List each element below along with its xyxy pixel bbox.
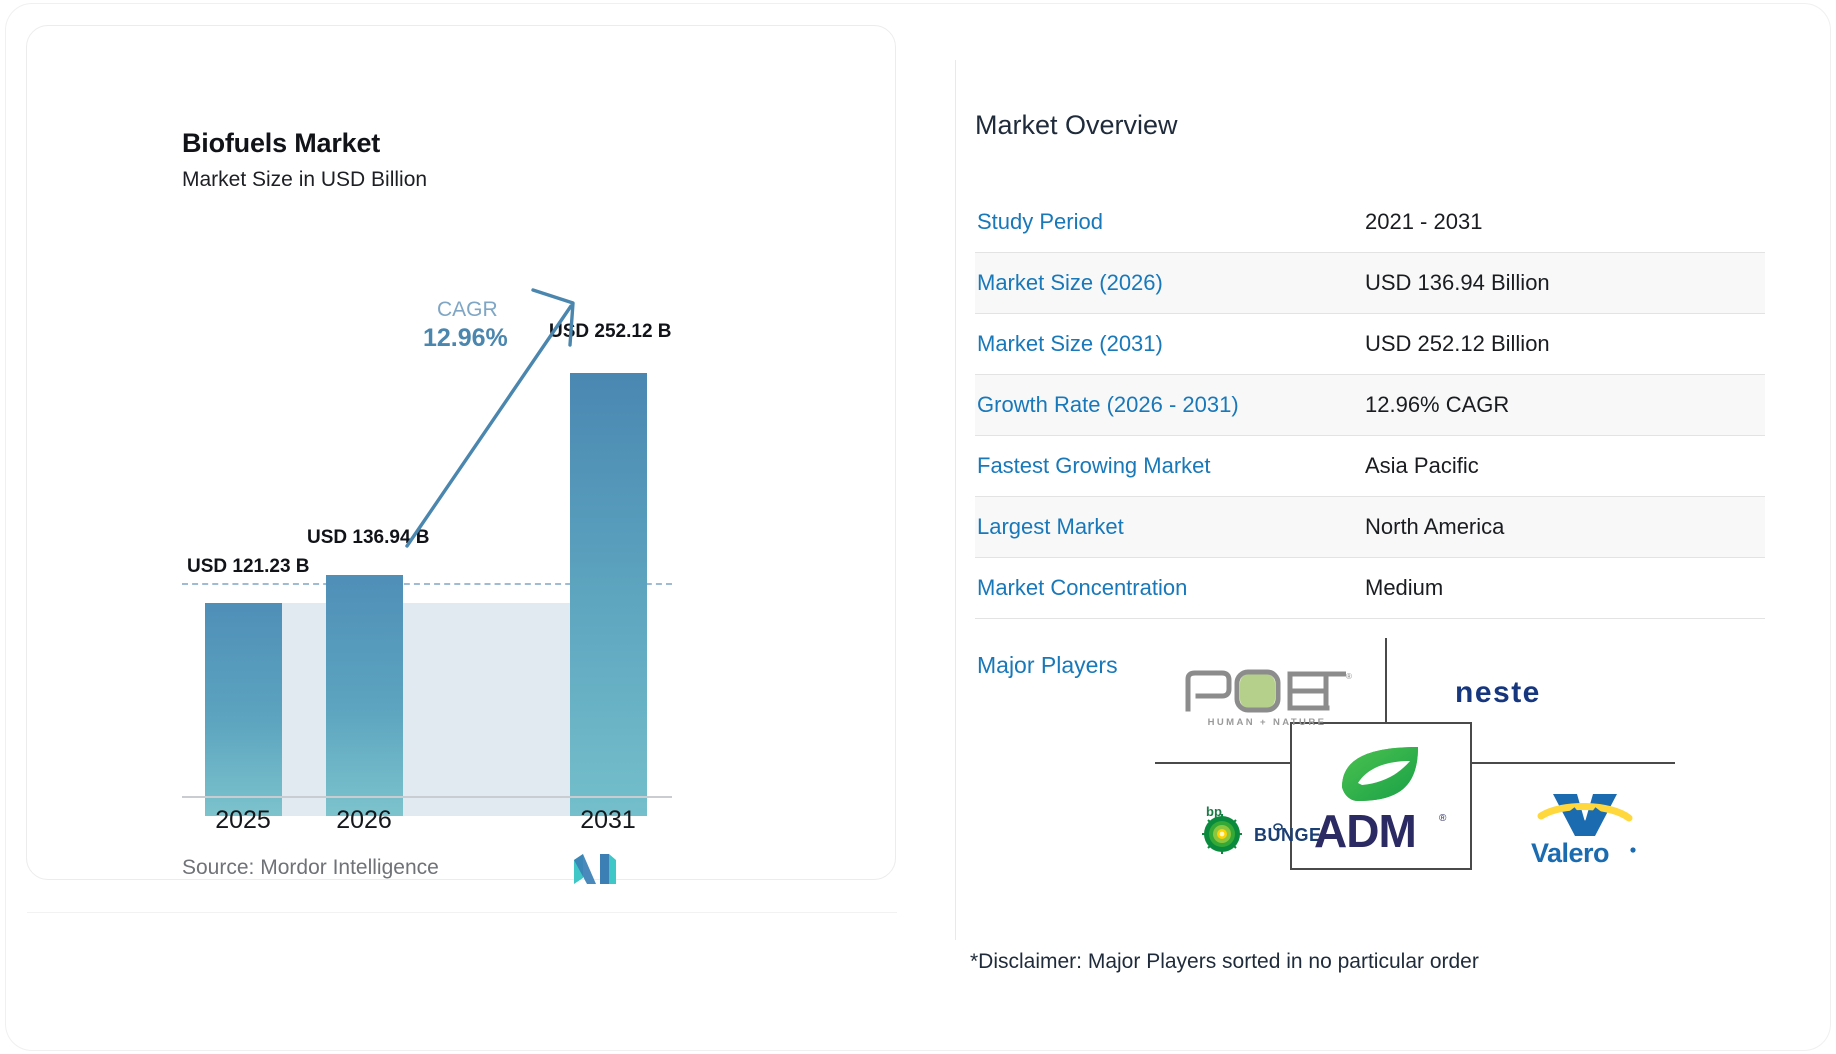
- chart-source-row: Source: Mordor Intelligence: [182, 856, 742, 896]
- table-row: Fastest Growing Market Asia Pacific: [975, 436, 1765, 497]
- row-key: Growth Rate (2026 - 2031): [975, 392, 1365, 418]
- svg-text:®: ®: [1439, 813, 1447, 824]
- svg-text:Valero: Valero: [1531, 838, 1609, 868]
- overview-table: Study Period 2021 - 2031 Market Size (20…: [975, 192, 1765, 619]
- valero-logo-icon: Valero: [1515, 788, 1655, 868]
- row-value: North America: [1365, 514, 1765, 540]
- market-overview-panel: Market Overview Study Period 2021 - 2031…: [960, 40, 1800, 1010]
- bar-chart-plot: USD 121.23 B USD 136.94 B USD 252.12 B C…: [27, 26, 897, 816]
- bar-2025: [205, 603, 282, 816]
- svg-text:neste: neste: [1455, 676, 1541, 709]
- poet-tagline: HUMAN + NATURE: [1208, 717, 1327, 728]
- table-row: Market Size (2026) USD 136.94 Billion: [975, 253, 1765, 314]
- row-value: USD 252.12 Billion: [1365, 331, 1765, 357]
- page-root: Biofuels Market Market Size in USD Billi…: [0, 0, 1836, 1054]
- bar-2026: [326, 575, 403, 816]
- x-tick-2025: 2025: [183, 806, 303, 835]
- player-logo-valero: Valero: [1497, 780, 1672, 875]
- table-row: Study Period 2021 - 2031: [975, 192, 1765, 253]
- bar-2026-fill: [326, 575, 403, 816]
- svg-text:®: ®: [1346, 672, 1352, 681]
- row-key: Market Size (2026): [975, 270, 1365, 296]
- poet-logo-icon: ®: [1182, 667, 1352, 715]
- adm-logo-icon: ADM ®: [1306, 743, 1456, 853]
- player-logo-poet: ® HUMAN + NATURE: [1167, 650, 1367, 745]
- row-value: 2021 - 2031: [1365, 209, 1765, 235]
- chart-card: Biofuels Market Market Size in USD Billi…: [26, 25, 896, 880]
- bar-label-2025: USD 121.23 B: [187, 556, 310, 578]
- row-value: 12.96% CAGR: [1365, 392, 1765, 418]
- player-logo-adm: ADM ®: [1295, 735, 1467, 860]
- card-footer-divider: [27, 912, 897, 913]
- table-row: Market Concentration Medium: [975, 558, 1765, 619]
- source-name: Mordor Intelligence: [260, 856, 439, 879]
- major-players-logo-grid: ® HUMAN + NATURE neste bp: [1125, 630, 1725, 900]
- major-players-label: Major Players: [977, 652, 1118, 679]
- row-key: Study Period: [975, 209, 1365, 235]
- neste-logo-icon: neste: [1455, 674, 1615, 710]
- panel-vertical-divider: [955, 60, 956, 940]
- source-label: Source: Mordor Intelligence: [182, 856, 439, 880]
- x-tick-2031: 2031: [548, 806, 668, 835]
- row-value: USD 136.94 Billion: [1365, 270, 1765, 296]
- row-key: Fastest Growing Market: [975, 453, 1365, 479]
- source-prefix: Source:: [182, 856, 254, 879]
- svg-text:ADM: ADM: [1314, 805, 1416, 853]
- row-value: Medium: [1365, 575, 1765, 601]
- x-tick-2026: 2026: [304, 806, 424, 835]
- row-key: Largest Market: [975, 514, 1365, 540]
- x-axis-line: [182, 796, 672, 798]
- table-row: Market Size (2031) USD 252.12 Billion: [975, 314, 1765, 375]
- row-value: Asia Pacific: [1365, 453, 1765, 479]
- bar-2025-fill: [205, 603, 282, 816]
- players-disclaimer: *Disclaimer: Major Players sorted in no …: [970, 950, 1479, 974]
- table-row: Growth Rate (2026 - 2031) 12.96% CAGR: [975, 375, 1765, 436]
- row-key: Market Concentration: [975, 575, 1365, 601]
- player-logo-neste: neste: [1425, 662, 1645, 722]
- overview-title: Market Overview: [975, 110, 1178, 141]
- table-row: Largest Market North America: [975, 497, 1765, 558]
- mordor-intelligence-logo-icon: [572, 852, 618, 886]
- chart-band-2: [402, 603, 570, 816]
- growth-arrow-icon: [387, 266, 597, 556]
- row-key: Market Size (2031): [975, 331, 1365, 357]
